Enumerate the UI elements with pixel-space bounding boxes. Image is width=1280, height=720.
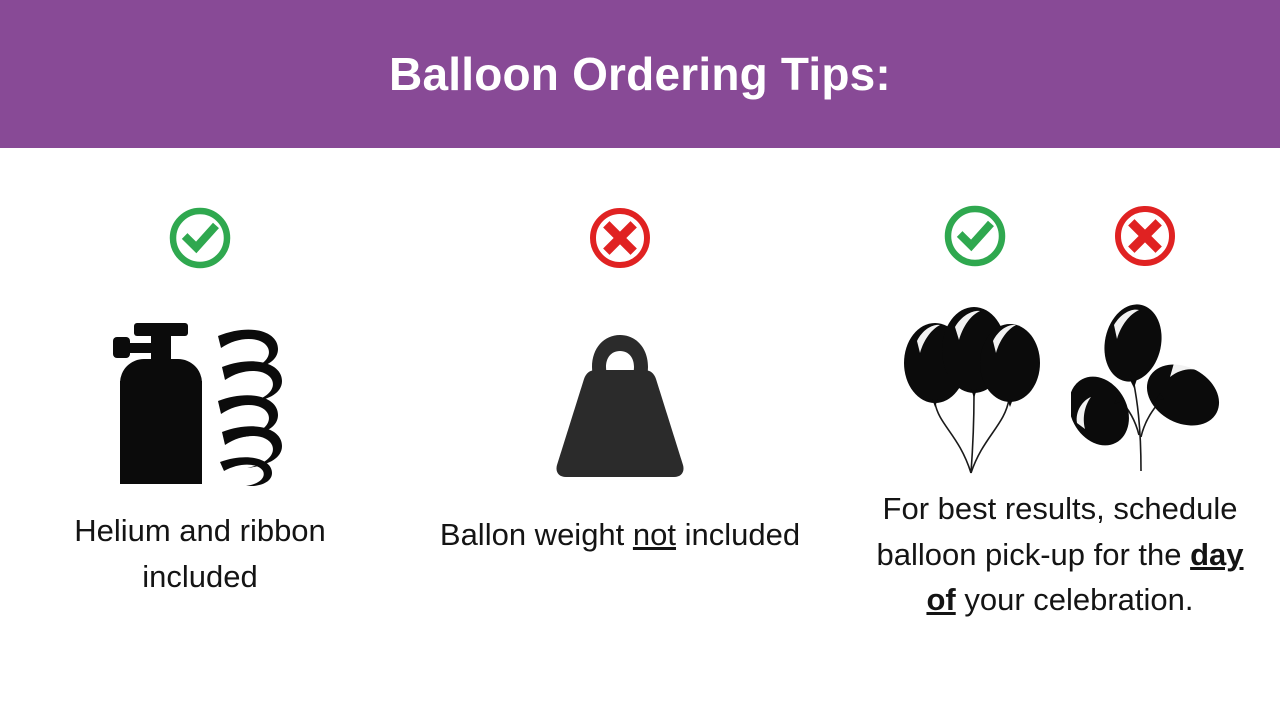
cross-circle-icon [1112,203,1178,274]
tips-container: Helium and ribbon included [0,148,1280,720]
curly-ribbon-icon [218,330,282,486]
check-circle-icon [167,205,233,276]
helium-art [100,286,300,486]
balloon-cluster-inflated-icon [899,295,1049,480]
balloon-cluster-deflated-icon [1071,295,1221,480]
caption-part: Ballon weight [440,517,633,552]
tip-caption-weight: Ballon weight not included [420,512,820,558]
caption-part: For best results, schedule balloon pick-… [876,491,1237,572]
caption-emphasis-not: not [633,517,676,552]
cross-circle-icon [587,205,653,276]
slide-root: Balloon Ordering Tips: [0,0,1280,720]
status-row [900,204,1220,272]
weight-icon [556,335,683,477]
tip-column-helium-ribbon: Helium and ribbon included [0,148,400,599]
status-row [587,206,653,274]
caption-part: included [676,517,800,552]
caption-text: Helium and ribbon included [74,513,326,594]
status-row [167,206,233,274]
tip-caption-helium: Helium and ribbon included [15,508,385,599]
tip-column-pickup-timing: For best results, schedule balloon pick-… [840,148,1280,623]
check-circle-icon [942,203,1008,274]
page-title: Balloon Ordering Tips: [369,51,911,97]
tip-column-balloon-weight: Ballon weight not included [400,148,840,558]
helium-tank-icon [113,323,202,484]
tip-caption-pickup: For best results, schedule balloon pick-… [865,486,1255,623]
caption-part: your celebration. [956,582,1194,617]
header-banner: Balloon Ordering Tips: [0,0,1280,148]
balloons-art [895,280,1225,480]
weight-art [530,290,710,490]
